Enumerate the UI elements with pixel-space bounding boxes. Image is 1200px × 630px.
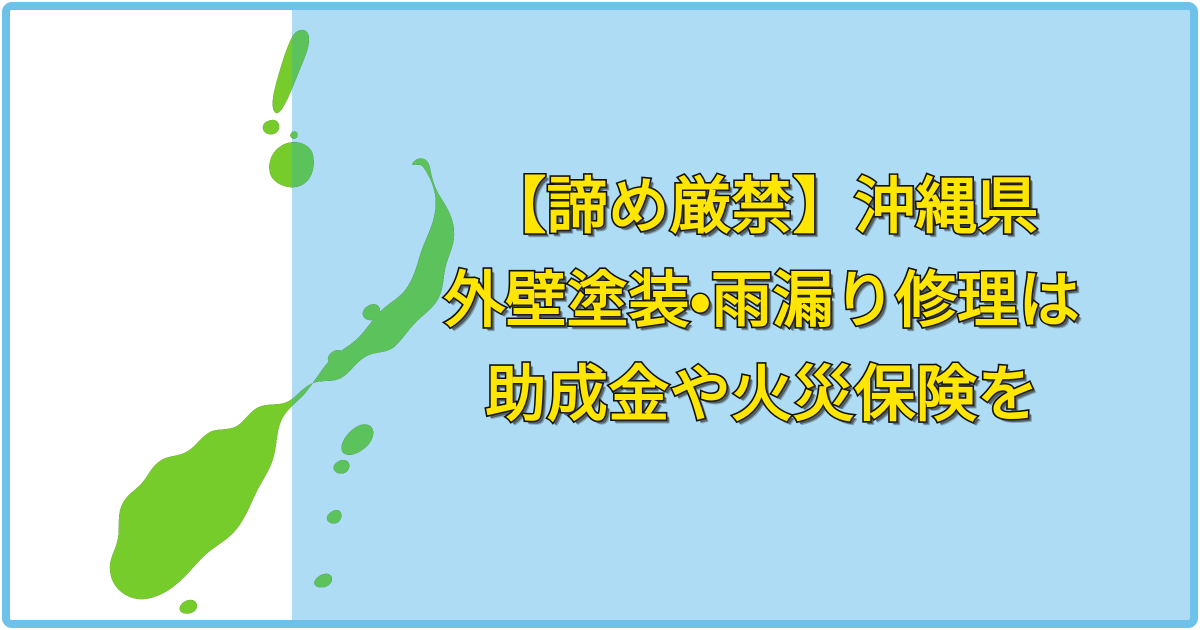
headline-block: 【諦め厳禁】沖縄県 外壁塗装・雨漏り修理は 助成金や火災保険を — [442, 160, 1082, 442]
headline-line-3: 助成金や火災保険を — [485, 348, 1039, 442]
banner-frame: 【諦め厳禁】沖縄県 外壁塗装・雨漏り修理は 助成金や火災保険を — [2, 2, 1198, 628]
headline-line-2: 外壁塗装・雨漏り修理は — [444, 254, 1080, 348]
banner-root: 【諦め厳禁】沖縄県 外壁塗装・雨漏り修理は 助成金や火災保険を — [0, 0, 1200, 630]
headline-line-1: 【諦め厳禁】沖縄県 — [485, 160, 1039, 254]
banner-stage: 【諦め厳禁】沖縄県 外壁塗装・雨漏り修理は 助成金や火災保険を — [10, 10, 1190, 620]
left-white-panel — [10, 10, 292, 620]
